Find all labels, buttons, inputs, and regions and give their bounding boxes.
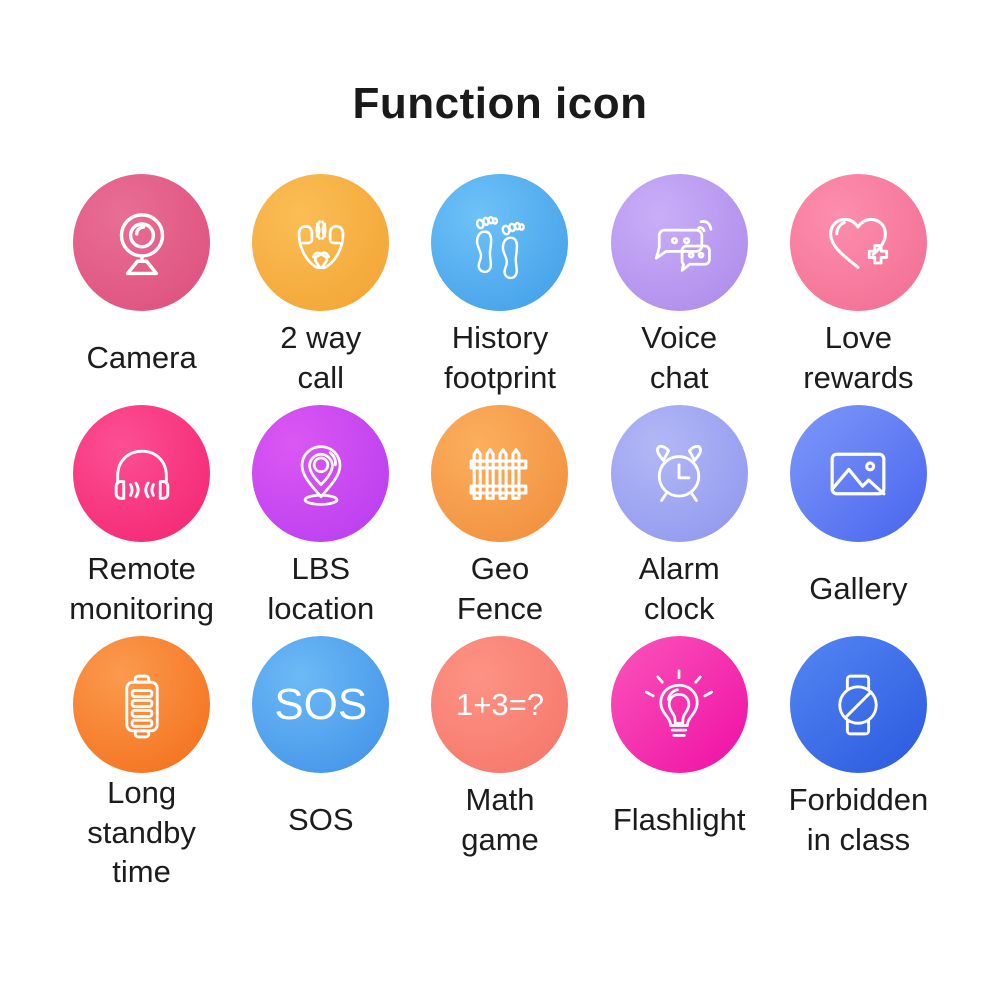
geo-fence-badge[interactable]: [431, 405, 568, 542]
grid-item-label: Flashlight: [613, 800, 746, 840]
fence-icon: [462, 436, 538, 512]
love-rewards-badge[interactable]: [790, 174, 927, 311]
grid-item-label: Gallery: [809, 569, 907, 609]
grid-item-label: Forbidden in class: [789, 780, 929, 859]
label-wrap: Geo Fence: [410, 542, 589, 636]
grid-item-alarm-clock[interactable]: Alarm clock: [590, 405, 769, 636]
grid-item-remote-monitoring[interactable]: Remote monitoring: [52, 405, 231, 636]
label-wrap: Alarm clock: [590, 542, 769, 636]
grid-item-geo-fence[interactable]: Geo Fence: [410, 405, 589, 636]
function-icon-grid: Camera 2: [0, 174, 1000, 867]
sos-badge[interactable]: SOS: [252, 636, 389, 773]
two-way-call-icon: [283, 205, 359, 281]
grid-item-math-game[interactable]: 1+3=? Math game: [410, 636, 589, 867]
camera-badge[interactable]: [73, 174, 210, 311]
battery-icon: [104, 667, 180, 743]
gallery-badge[interactable]: [790, 405, 927, 542]
flashlight-badge[interactable]: [611, 636, 748, 773]
grid-item-camera[interactable]: Camera: [52, 174, 231, 405]
long-standby-badge[interactable]: [73, 636, 210, 773]
label-wrap: Forbidden in class: [769, 773, 948, 867]
grid-item-label: 2 way call: [280, 318, 361, 397]
grid-item-history-footprint[interactable]: History footprint: [410, 174, 589, 405]
function-icon-page: Function icon Camera: [0, 0, 1000, 1000]
grid-item-gallery[interactable]: Gallery: [769, 405, 948, 636]
grid-item-2-way-call[interactable]: 2 way call: [231, 174, 410, 405]
alarm-clock-badge[interactable]: [611, 405, 748, 542]
label-wrap: Math game: [410, 773, 589, 867]
math-game-badge[interactable]: 1+3=?: [431, 636, 568, 773]
speech-bubbles-icon: [641, 205, 717, 281]
footprints-icon: [462, 205, 538, 281]
label-wrap: Love rewards: [769, 311, 948, 405]
grid-item-label: Voice chat: [641, 318, 717, 397]
webcam-icon: [104, 205, 180, 281]
grid-item-long-standby-time[interactable]: Long standby time: [52, 636, 231, 867]
heart-plus-icon: [820, 205, 896, 281]
location-pin-icon: [283, 436, 359, 512]
math-equation-icon: 1+3=?: [456, 689, 544, 720]
label-wrap: Long standby time: [52, 773, 231, 892]
label-wrap: Camera: [52, 311, 231, 405]
label-wrap: LBS location: [231, 542, 410, 636]
grid-item-forbidden-in-class[interactable]: Forbidden in class: [769, 636, 948, 867]
two-way-call-badge[interactable]: [252, 174, 389, 311]
headphones-icon: [104, 436, 180, 512]
label-wrap: 2 way call: [231, 311, 410, 405]
label-wrap: Flashlight: [590, 773, 769, 867]
image-gallery-icon: [820, 436, 896, 512]
lightbulb-icon: [641, 667, 717, 743]
grid-item-label: Love rewards: [803, 318, 913, 397]
lbs-location-badge[interactable]: [252, 405, 389, 542]
grid-item-label: SOS: [288, 800, 353, 840]
label-wrap: Remote monitoring: [52, 542, 231, 636]
grid-item-label: Remote monitoring: [69, 549, 214, 628]
history-footprint-badge[interactable]: [431, 174, 568, 311]
grid-item-label: Long standby time: [52, 773, 231, 892]
label-wrap: Gallery: [769, 542, 948, 636]
grid-item-label: LBS location: [267, 549, 374, 628]
grid-item-label: Camera: [86, 338, 196, 378]
page-title: Function icon: [0, 0, 1000, 126]
grid-item-label: Geo Fence: [457, 549, 543, 628]
grid-item-label: History footprint: [444, 318, 556, 397]
grid-item-voice-chat[interactable]: Voice chat: [590, 174, 769, 405]
sos-text-icon: SOS: [274, 683, 367, 727]
voice-chat-badge[interactable]: [611, 174, 748, 311]
grid-item-lbs-location[interactable]: LBS location: [231, 405, 410, 636]
grid-item-flashlight[interactable]: Flashlight: [590, 636, 769, 867]
grid-item-love-rewards[interactable]: Love rewards: [769, 174, 948, 405]
grid-item-sos[interactable]: SOS SOS: [231, 636, 410, 867]
forbidden-in-class-badge[interactable]: [790, 636, 927, 773]
alarm-clock-icon: [641, 436, 717, 512]
watch-forbidden-icon: [820, 667, 896, 743]
label-wrap: Voice chat: [590, 311, 769, 405]
grid-item-label: Alarm clock: [639, 549, 720, 628]
label-wrap: SOS: [231, 773, 410, 867]
label-wrap: History footprint: [410, 311, 589, 405]
remote-monitoring-badge[interactable]: [73, 405, 210, 542]
grid-item-label: Math game: [461, 780, 539, 859]
